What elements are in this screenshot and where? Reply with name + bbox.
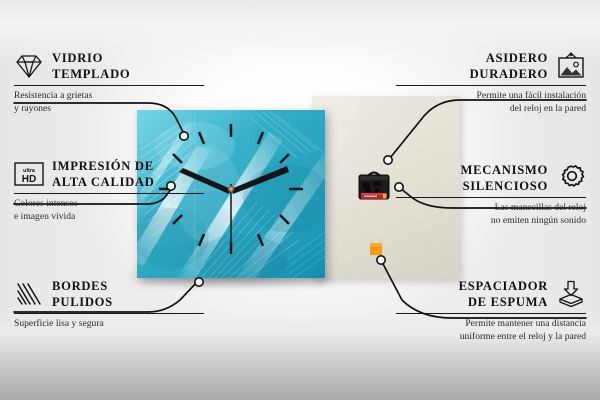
- foam-spacer: [370, 243, 385, 258]
- feature-description: Permite una fácil instalación del reloj …: [396, 90, 586, 116]
- feature-title: IMPRESIÓN DE ALTA CALIDAD: [52, 158, 155, 190]
- callout-dot-espaciador: [377, 256, 385, 264]
- ultra-hd-icon: ultra HD: [14, 159, 44, 189]
- feature-divider: [14, 85, 204, 86]
- gear-icon: [556, 163, 586, 193]
- foam-spacer-icon: [556, 279, 586, 309]
- feature-header: ESPACIADOR DE ESPUMA: [396, 278, 586, 310]
- hanging-frame-icon: [556, 51, 586, 81]
- feature-header: MECANISMO SILENCIOSO: [396, 162, 586, 194]
- svg-text:HD: HD: [22, 174, 36, 185]
- feature-description: Permite mantener una distancia uniforme …: [396, 318, 586, 344]
- feature-espaciador-de-espuma: ESPACIADOR DE ESPUMA Permite mantener un…: [396, 278, 586, 344]
- feature-divider: [14, 313, 204, 314]
- feature-vidrio-templado: VIDRIO TEMPLADO Resistencia a grietas y …: [14, 50, 204, 116]
- feature-header: ultra HD IMPRESIÓN DE ALTA CALIDAD: [14, 158, 204, 190]
- clock-mechanism: [355, 168, 393, 206]
- feature-header: BORDES PULIDOS: [14, 278, 204, 310]
- feature-divider: [396, 85, 586, 86]
- infographic-stage: VIDRIO TEMPLADO Resistencia a grietas y …: [0, 0, 600, 400]
- feature-bordes-pulidos: BORDES PULIDOS Superficie lisa y segura: [14, 278, 204, 331]
- diamond-icon: [14, 51, 44, 81]
- callout-dot-asidero: [384, 156, 392, 164]
- feature-description: Las manecillas del reloj no emiten ningú…: [396, 202, 586, 228]
- polished-edges-icon: [14, 279, 44, 309]
- feature-description: Colores intensos e imagen vívida: [14, 198, 204, 224]
- feature-description: Resistencia a grietas y rayones: [14, 90, 204, 116]
- feature-description: Superficie lisa y segura: [14, 318, 204, 331]
- feature-impresion-alta-calidad: ultra HD IMPRESIÓN DE ALTA CALIDAD Color…: [14, 158, 204, 224]
- feature-title: BORDES PULIDOS: [52, 278, 113, 310]
- feature-title: ASIDERO DURADERO: [470, 50, 548, 82]
- feature-mecanismo-silencioso: MECANISMO SILENCIOSO Las manecillas del …: [396, 162, 586, 228]
- feature-divider: [396, 197, 586, 198]
- feature-header: VIDRIO TEMPLADO: [14, 50, 204, 82]
- callout-dot-vidrio: [180, 132, 188, 140]
- feature-divider: [14, 193, 204, 194]
- feature-header: ASIDERO DURADERO: [396, 50, 586, 82]
- feature-title: ESPACIADOR DE ESPUMA: [459, 278, 548, 310]
- feature-title: MECANISMO SILENCIOSO: [461, 162, 548, 194]
- feature-title: VIDRIO TEMPLADO: [52, 50, 130, 82]
- feature-divider: [396, 313, 586, 314]
- feature-asidero-duradero: ASIDERO DURADERO Permite una fácil insta…: [396, 50, 586, 116]
